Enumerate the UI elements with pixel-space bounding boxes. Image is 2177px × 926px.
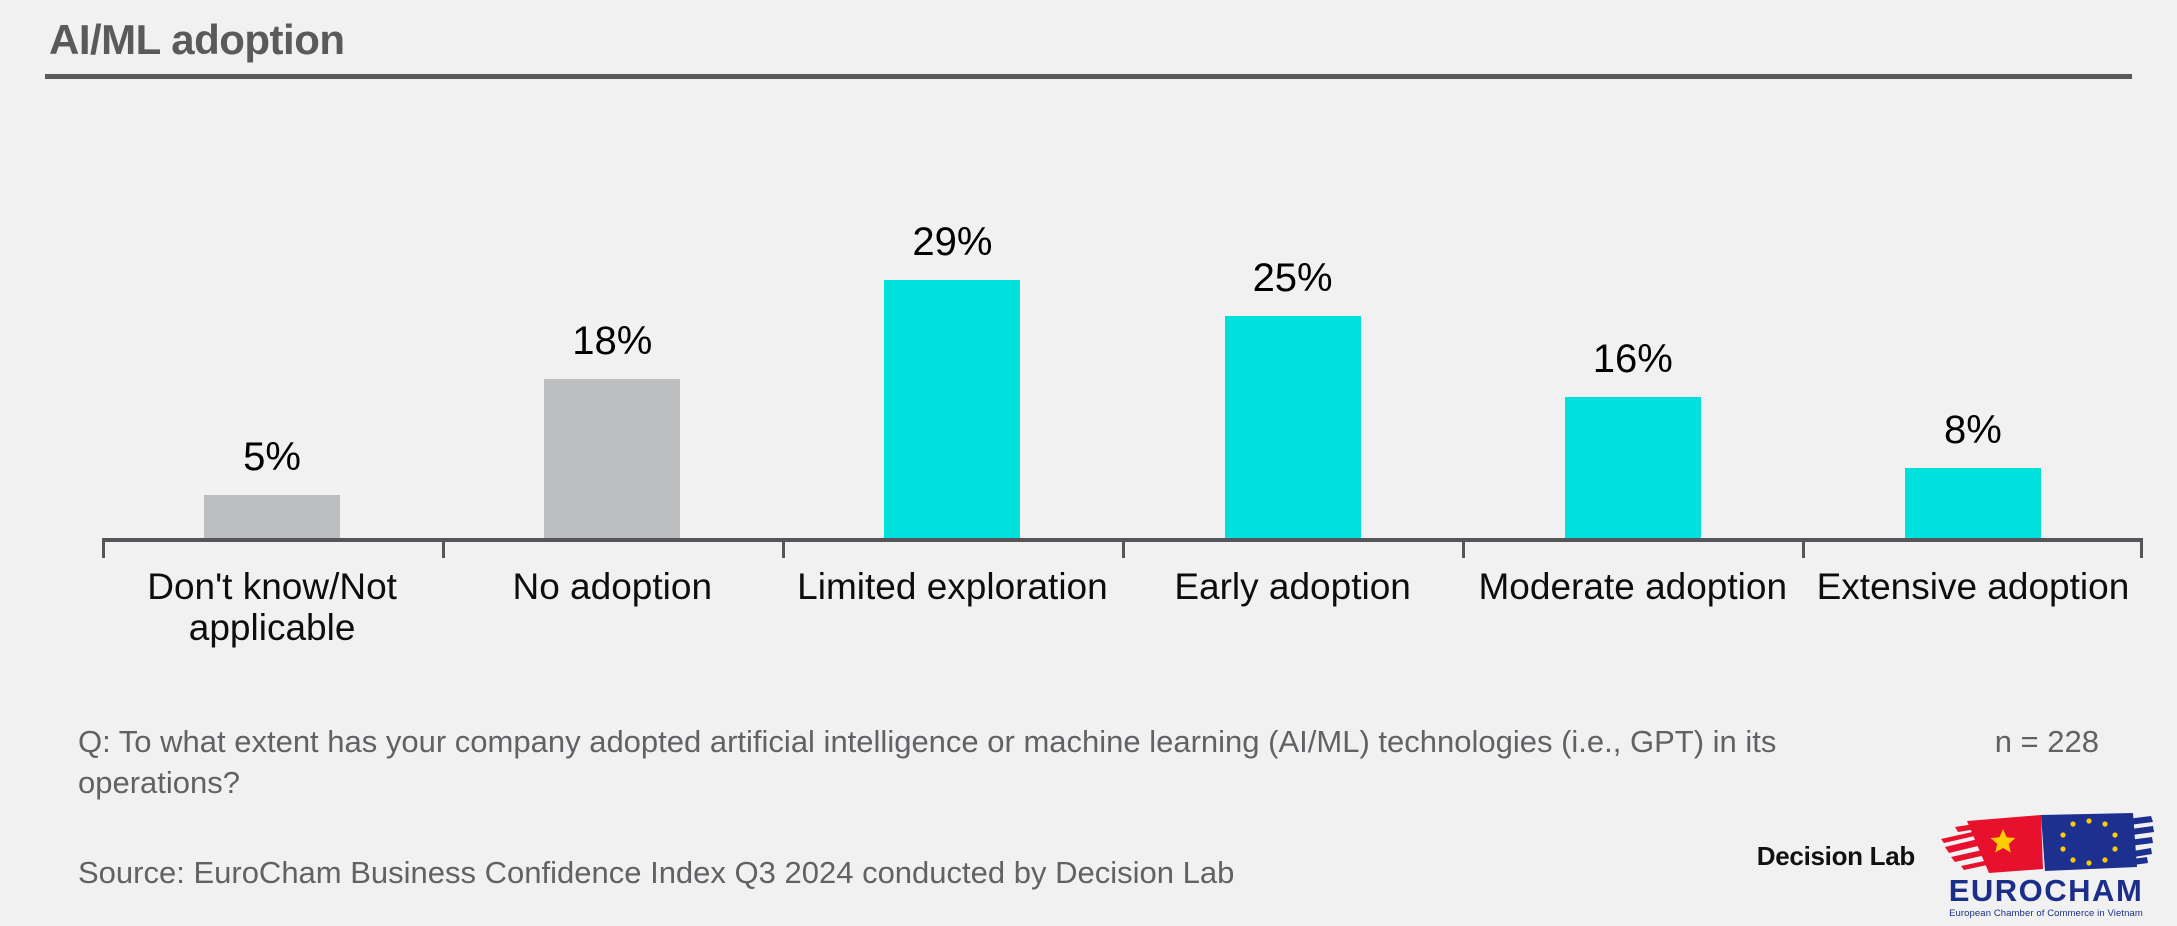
- bar-early-adoption[interactable]: [1225, 316, 1361, 540]
- x-axis-label-limited-exploration: Limited exploration: [782, 566, 1122, 649]
- bar-value-label: 8%: [1944, 410, 2002, 450]
- bar-group-4: 16%: [1463, 120, 1803, 540]
- bar-group-3: 25%: [1123, 120, 1463, 540]
- bar-dont-know-not-applicable[interactable]: [204, 495, 340, 540]
- eurocham-wordmark: EUROCHAM: [1937, 875, 2155, 906]
- bar-moderate-adoption[interactable]: [1565, 397, 1701, 540]
- x-axis-labels: Don't know/Not applicable No adoption Li…: [102, 566, 2143, 649]
- eurocham-tagline: European Chamber of Commerce in Vietnam: [1937, 909, 2155, 919]
- x-axis-tick: [1802, 538, 1805, 558]
- bar-no-adoption[interactable]: [544, 379, 680, 540]
- x-axis-label-no-adoption: No adoption: [442, 566, 782, 649]
- bar-extensive-adoption[interactable]: [1905, 468, 2041, 540]
- sample-size-label: n = 228: [1995, 722, 2099, 760]
- bar-group-1: 18%: [442, 120, 782, 540]
- page-title: AI/ML adoption: [45, 18, 2132, 62]
- x-axis-label-moderate-adoption: Moderate adoption: [1463, 566, 1803, 649]
- logo-row: Decision Lab: [1757, 813, 2155, 919]
- eurocham-logo: EUROCHAM European Chamber of Commerce in…: [1937, 813, 2155, 919]
- bar-group-5: 8%: [1803, 120, 2143, 540]
- source-text: Source: EuroCham Business Confidence Ind…: [78, 855, 1234, 891]
- x-axis-tick: [782, 538, 785, 558]
- decision-lab-logo: Decision Lab: [1757, 841, 1915, 890]
- survey-question-text: Q: To what extent has your company adopt…: [78, 722, 1778, 804]
- x-axis-tick: [442, 538, 445, 558]
- eurocham-flag-brushstroke-icon: [1937, 813, 2155, 877]
- bar-group-2: 29%: [782, 120, 1122, 540]
- bar-value-label: 16%: [1593, 339, 1673, 379]
- bar-value-label: 25%: [1253, 258, 1333, 298]
- bar-group-0: 5%: [102, 120, 442, 540]
- title-divider: [45, 74, 2132, 79]
- bar-limited-exploration[interactable]: [884, 280, 1020, 540]
- x-axis-label-extensive-adoption: Extensive adoption: [1803, 566, 2143, 649]
- x-axis-tick: [1122, 538, 1125, 558]
- x-axis-label-early-adoption: Early adoption: [1123, 566, 1463, 649]
- question-row: Q: To what extent has your company adopt…: [78, 722, 2099, 804]
- x-axis-tick: [102, 538, 105, 558]
- bar-value-label: 5%: [243, 437, 301, 477]
- chart-plot-area: 5% 18% 29% 25% 16% 8%: [102, 120, 2143, 540]
- bar-value-label: 18%: [572, 321, 652, 361]
- x-axis-label-dont-know-not-applicable: Don't know/Not applicable: [102, 566, 442, 649]
- x-axis-tick: [1462, 538, 1465, 558]
- bar-chart: 5% 18% 29% 25% 16% 8%: [102, 120, 2143, 540]
- title-block: AI/ML adoption: [45, 18, 2132, 79]
- bar-value-label: 29%: [912, 222, 992, 262]
- x-axis-tick: [2140, 538, 2143, 558]
